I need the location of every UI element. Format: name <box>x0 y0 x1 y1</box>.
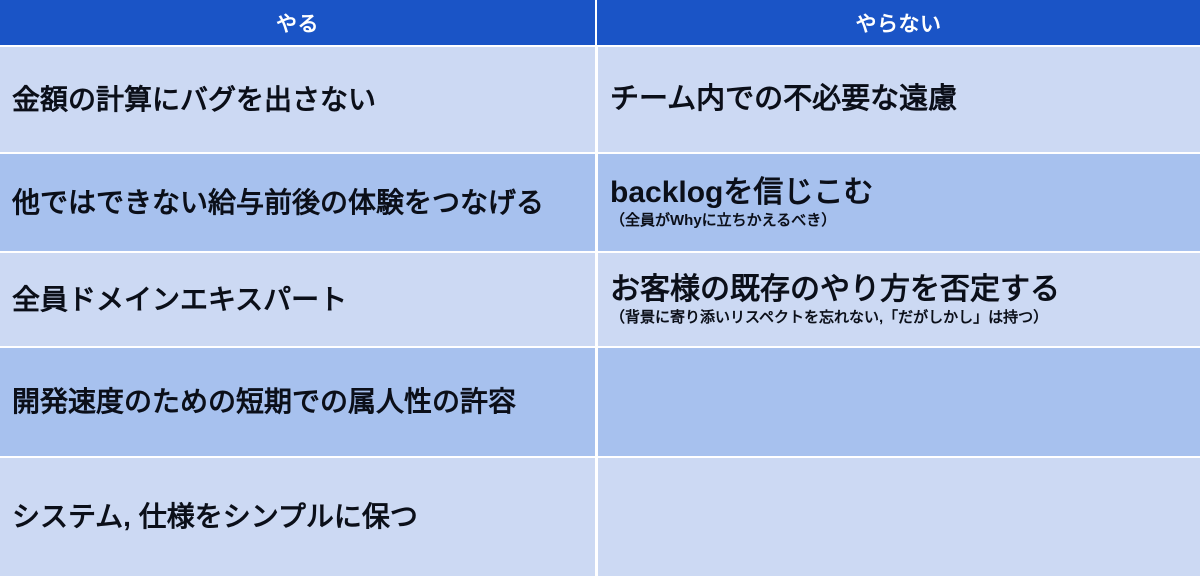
column-header-dont: やらない <box>597 0 1200 45</box>
comparison-table: やる やらない 金額の計算にバグを出さない チーム内での不必要な遠慮 他ではでき… <box>0 0 1200 578</box>
cell-sub-text: （背景に寄り添いリスペクトを忘れない,「だがしかし」は持つ） <box>610 309 1200 327</box>
cell-main-text: チーム内での不必要な遠慮 <box>610 82 1200 116</box>
table-row: 金額の計算にバグを出さない チーム内での不必要な遠慮 <box>0 45 1200 152</box>
cell-main-text: backlogを信じこむ <box>610 175 1200 210</box>
column-header-do-label: やる <box>276 14 319 35</box>
column-header-dont-label: やらない <box>856 14 942 35</box>
table-row: システム, 仕様をシンプルに保つ <box>0 456 1200 576</box>
table-cell-do-1: 金額の計算にバグを出さない <box>0 47 598 152</box>
table-header-row: やる やらない <box>0 0 1200 45</box>
cell-main-text: システム, 仕様をシンプルに保つ <box>12 500 595 533</box>
table-cell-dont-1: チーム内での不必要な遠慮 <box>598 47 1200 152</box>
cell-main-text: 他ではできない給与前後の体験をつなげる <box>12 186 595 219</box>
table-cell-dont-4 <box>598 348 1200 456</box>
cell-main-text: 開発速度のための短期での属人性の許容 <box>12 385 595 418</box>
table-cell-dont-5 <box>598 458 1200 576</box>
cell-main-text: お客様の既存のやり方を否定する <box>610 272 1200 307</box>
table-cell-dont-2: backlogを信じこむ （全員がWhyに立ちかえるべき） <box>598 154 1200 251</box>
table-row: 全員ドメインエキスパート お客様の既存のやり方を否定する （背景に寄り添いリスペ… <box>0 251 1200 346</box>
table-row: 他ではできない給与前後の体験をつなげる backlogを信じこむ （全員がWhy… <box>0 152 1200 251</box>
cell-sub-text: （全員がWhyに立ちかえるべき） <box>610 212 1200 230</box>
table-cell-do-2: 他ではできない給与前後の体験をつなげる <box>0 154 598 251</box>
cell-main-text: 全員ドメインエキスパート <box>12 283 595 316</box>
table-row: 開発速度のための短期での属人性の許容 <box>0 346 1200 456</box>
table-cell-do-5: システム, 仕様をシンプルに保つ <box>0 458 598 576</box>
table-cell-dont-3: お客様の既存のやり方を否定する （背景に寄り添いリスペクトを忘れない,「だがしか… <box>598 253 1200 346</box>
table-cell-do-3: 全員ドメインエキスパート <box>0 253 598 346</box>
table-cell-do-4: 開発速度のための短期での属人性の許容 <box>0 348 598 456</box>
column-header-do: やる <box>0 0 597 45</box>
cell-main-text: 金額の計算にバグを出さない <box>12 83 595 116</box>
